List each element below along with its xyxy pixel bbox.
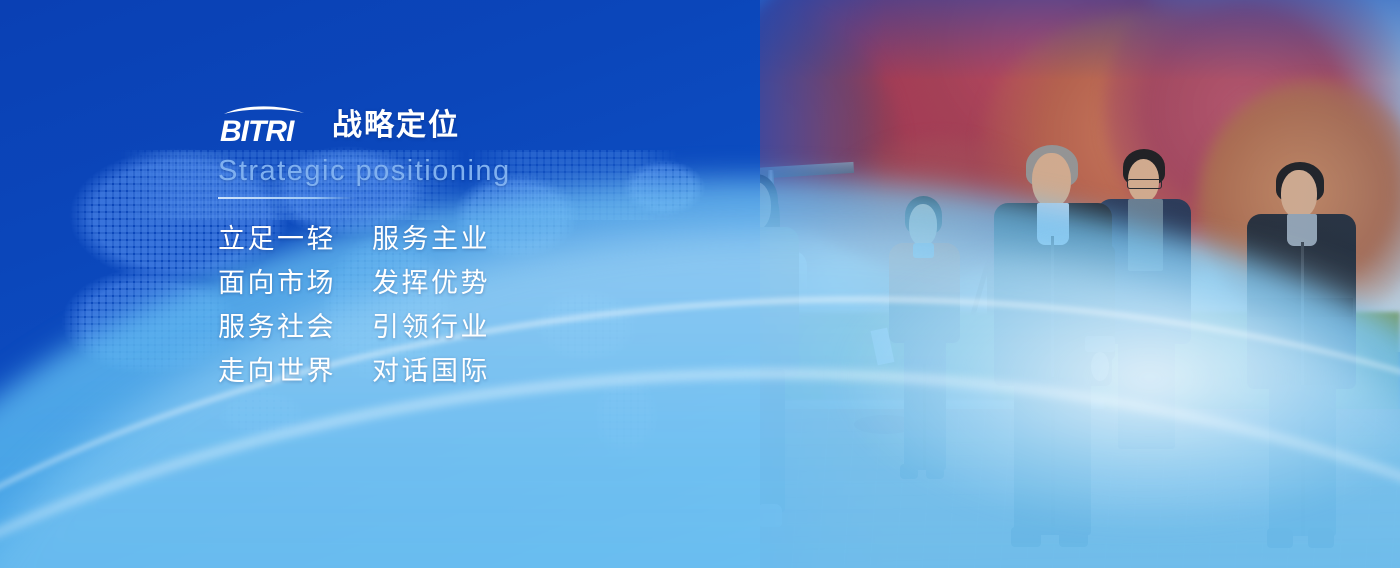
title-en: Strategic positioning: [218, 156, 738, 188]
slogan-right: 服务主业: [372, 217, 496, 261]
svg-text:BITRI: BITRI: [220, 115, 295, 147]
slogan-left: 立足一轻: [218, 217, 342, 261]
slogan-right: 引领行业: [372, 305, 496, 349]
title-cn: 战略定位: [332, 111, 460, 141]
slogan-left: 走向世界: [218, 349, 342, 393]
title-row: BITRI 战略定位: [218, 104, 738, 148]
slogan-row: 立足一轻 服务主业: [218, 217, 738, 261]
title-divider: [218, 197, 356, 199]
slogan-left: 面向市场: [218, 261, 342, 305]
light-arc-highlight: [840, 228, 1400, 528]
slogan-row: 走向世界 对话国际: [218, 349, 738, 393]
banner-content: BITRI 战略定位 Strategic positioning 立足一轻 服务…: [218, 104, 738, 393]
banner: BITRI 战略定位 Strategic positioning 立足一轻 服务…: [0, 0, 1400, 568]
slogan-right: 发挥优势: [372, 261, 496, 305]
slogan-list: 立足一轻 服务主业 面向市场 发挥优势 服务社会 引领行业 走向世界 对话国际: [218, 217, 738, 393]
slogan-row: 面向市场 发挥优势: [218, 261, 738, 305]
slogan-right: 对话国际: [372, 349, 496, 393]
slogan-left: 服务社会: [218, 305, 342, 349]
bitri-logo: BITRI: [218, 105, 318, 147]
slogan-row: 服务社会 引领行业: [218, 305, 738, 349]
